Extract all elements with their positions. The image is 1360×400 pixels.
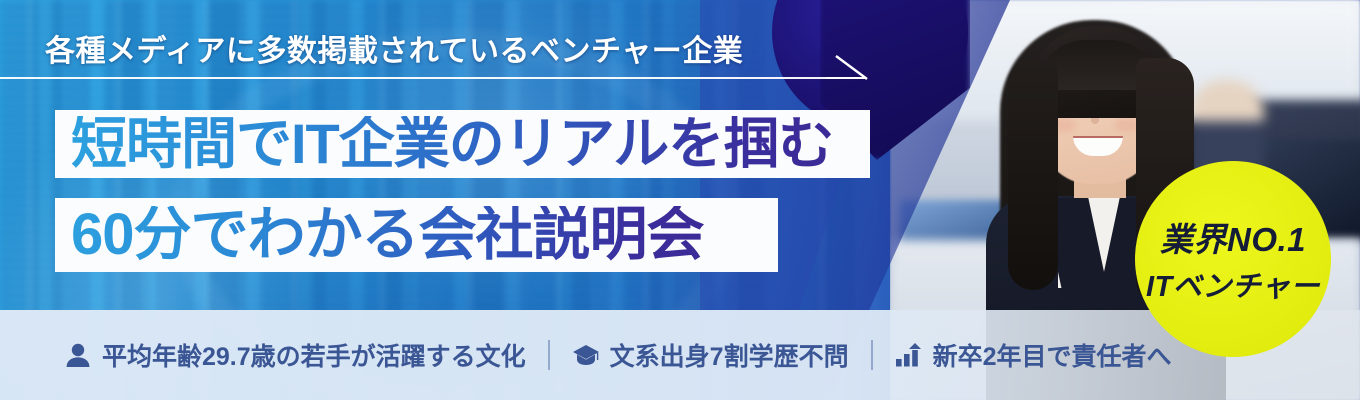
- recruitment-banner: 各種メディアに多数掲載されているベンチャー企業 短時間でIT企業のリアルを掴む …: [0, 0, 1360, 400]
- headline-band-1: 短時間でIT企業のリアルを掴む: [55, 110, 870, 178]
- stat-label-promotion: 新卒2年目で責任者へ: [933, 337, 1172, 373]
- stat-divider-2: [871, 340, 873, 370]
- person-icon: [64, 342, 92, 368]
- industry-badge: 業界NO.1 ITベンチャー: [1135, 161, 1331, 357]
- arrow-icon: [826, 52, 882, 86]
- tagline: 各種メディアに多数掲載されているベンチャー企業: [45, 26, 743, 70]
- stat-divider-1: [548, 340, 550, 370]
- stat-label-humanities: 文系出身7割学歴不問: [610, 337, 849, 373]
- stats-bar: 平均年齢29.7歳の若手が活躍する文化 文系出身7割学歴不問: [0, 310, 1360, 400]
- stat-item-average-age: 平均年齢29.7歳の若手が活躍する文化: [64, 337, 526, 373]
- stat-item-promotion: 新卒2年目で責任者へ: [895, 337, 1172, 373]
- badge-line-2: ITベンチャー: [1146, 263, 1320, 305]
- badge-line-1: 業界NO.1: [1160, 213, 1306, 261]
- headline-line-2: 60分でわかる会社説明会: [55, 206, 704, 264]
- stat-item-humanities: 文系出身7割学歴不問: [572, 337, 849, 373]
- headline-band-2: 60分でわかる会社説明会: [55, 198, 778, 272]
- graduation-cap-icon: [572, 342, 600, 368]
- hair-left-strand: [1008, 60, 1058, 290]
- stat-label-average-age: 平均年齢29.7歳の若手が活躍する文化: [102, 337, 526, 373]
- divider-rule: [0, 77, 864, 79]
- bar-chart-growth-icon: [895, 342, 923, 368]
- headline-line-1: 短時間でIT企業のリアルを掴む: [55, 116, 833, 172]
